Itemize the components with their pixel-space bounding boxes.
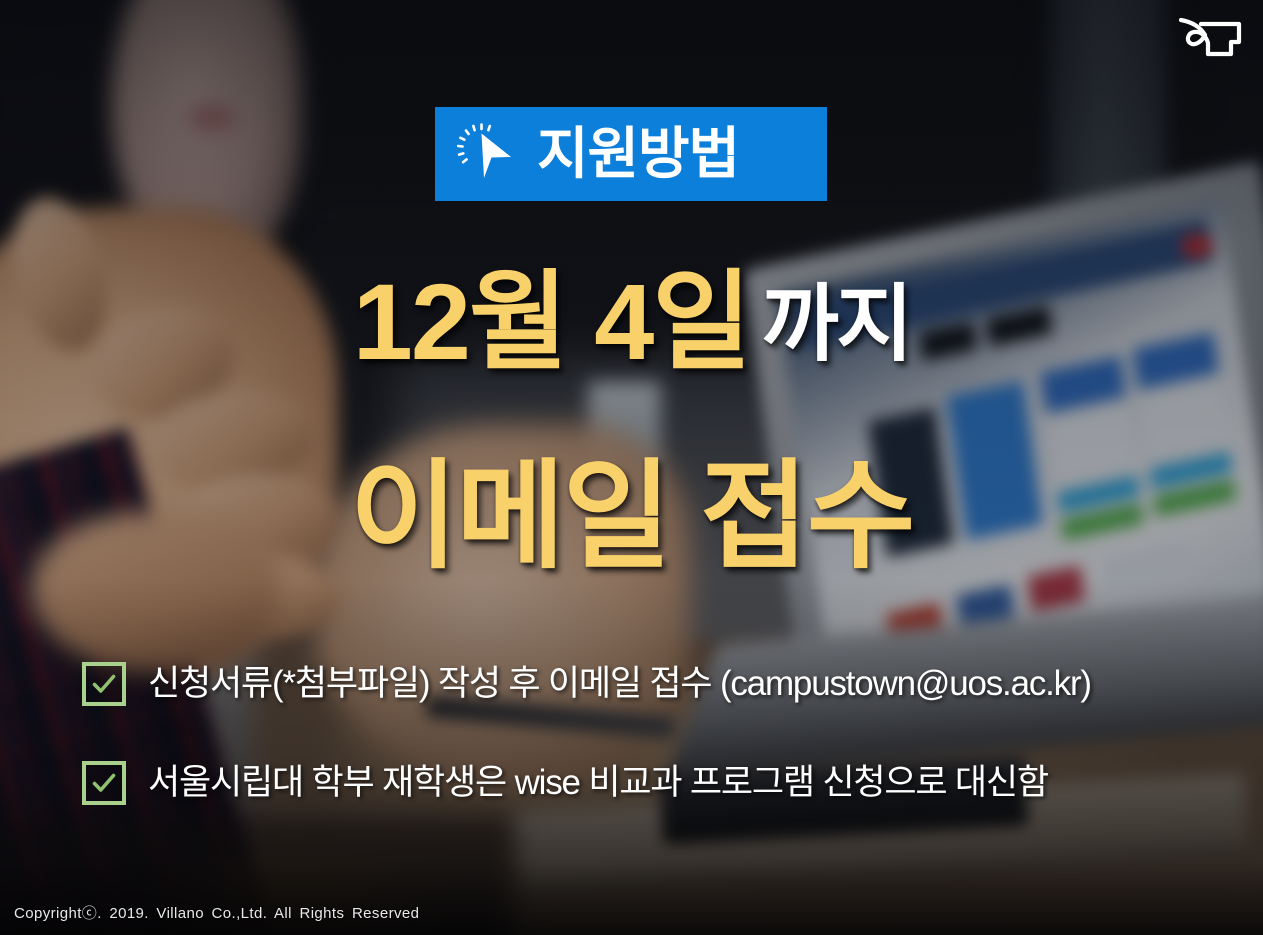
slide-root: 지원방법 12월 4일까지 이메일 접수 신청서류(*첨부파일) 작성 후 이메… <box>0 0 1263 935</box>
headline-deadline-date: 12월 4일 <box>353 261 750 382</box>
slide-content: 지원방법 12월 4일까지 이메일 접수 신청서류(*첨부파일) 작성 후 이메… <box>0 0 1263 935</box>
section-badge: 지원방법 <box>435 107 827 201</box>
bullet-text: 신청서류(*첨부파일) 작성 후 이메일 접수 (campustown@uos.… <box>148 665 1091 704</box>
cursor-click-icon <box>457 123 519 185</box>
bullet-text: 서울시립대 학부 재학생은 wise 비교과 프로그램 신청으로 대신함 <box>148 764 1048 803</box>
list-item: 신청서류(*첨부파일) 작성 후 이메일 접수 (campustown@uos.… <box>82 662 1223 706</box>
list-item: 서울시립대 학부 재학생은 wise 비교과 프로그램 신청으로 대신함 <box>82 761 1223 805</box>
headline-line-2: 이메일 접수 <box>0 458 1263 576</box>
bullet-list: 신청서류(*첨부파일) 작성 후 이메일 접수 (campustown@uos.… <box>82 662 1223 860</box>
badge-label: 지원방법 <box>537 126 739 182</box>
headline-deadline-suffix: 까지 <box>762 277 911 371</box>
villano-bird-logo-icon <box>1177 12 1249 70</box>
checkbox-checked-icon <box>82 761 126 805</box>
checkbox-checked-icon <box>82 662 126 706</box>
headline-submission-method: 이메일 접수 <box>350 451 914 583</box>
copyright-notice: Copyrightⓒ. 2019. Villano Co.,Ltd. All R… <box>14 902 419 923</box>
headline-line-1: 12월 4일까지 <box>0 268 1263 376</box>
